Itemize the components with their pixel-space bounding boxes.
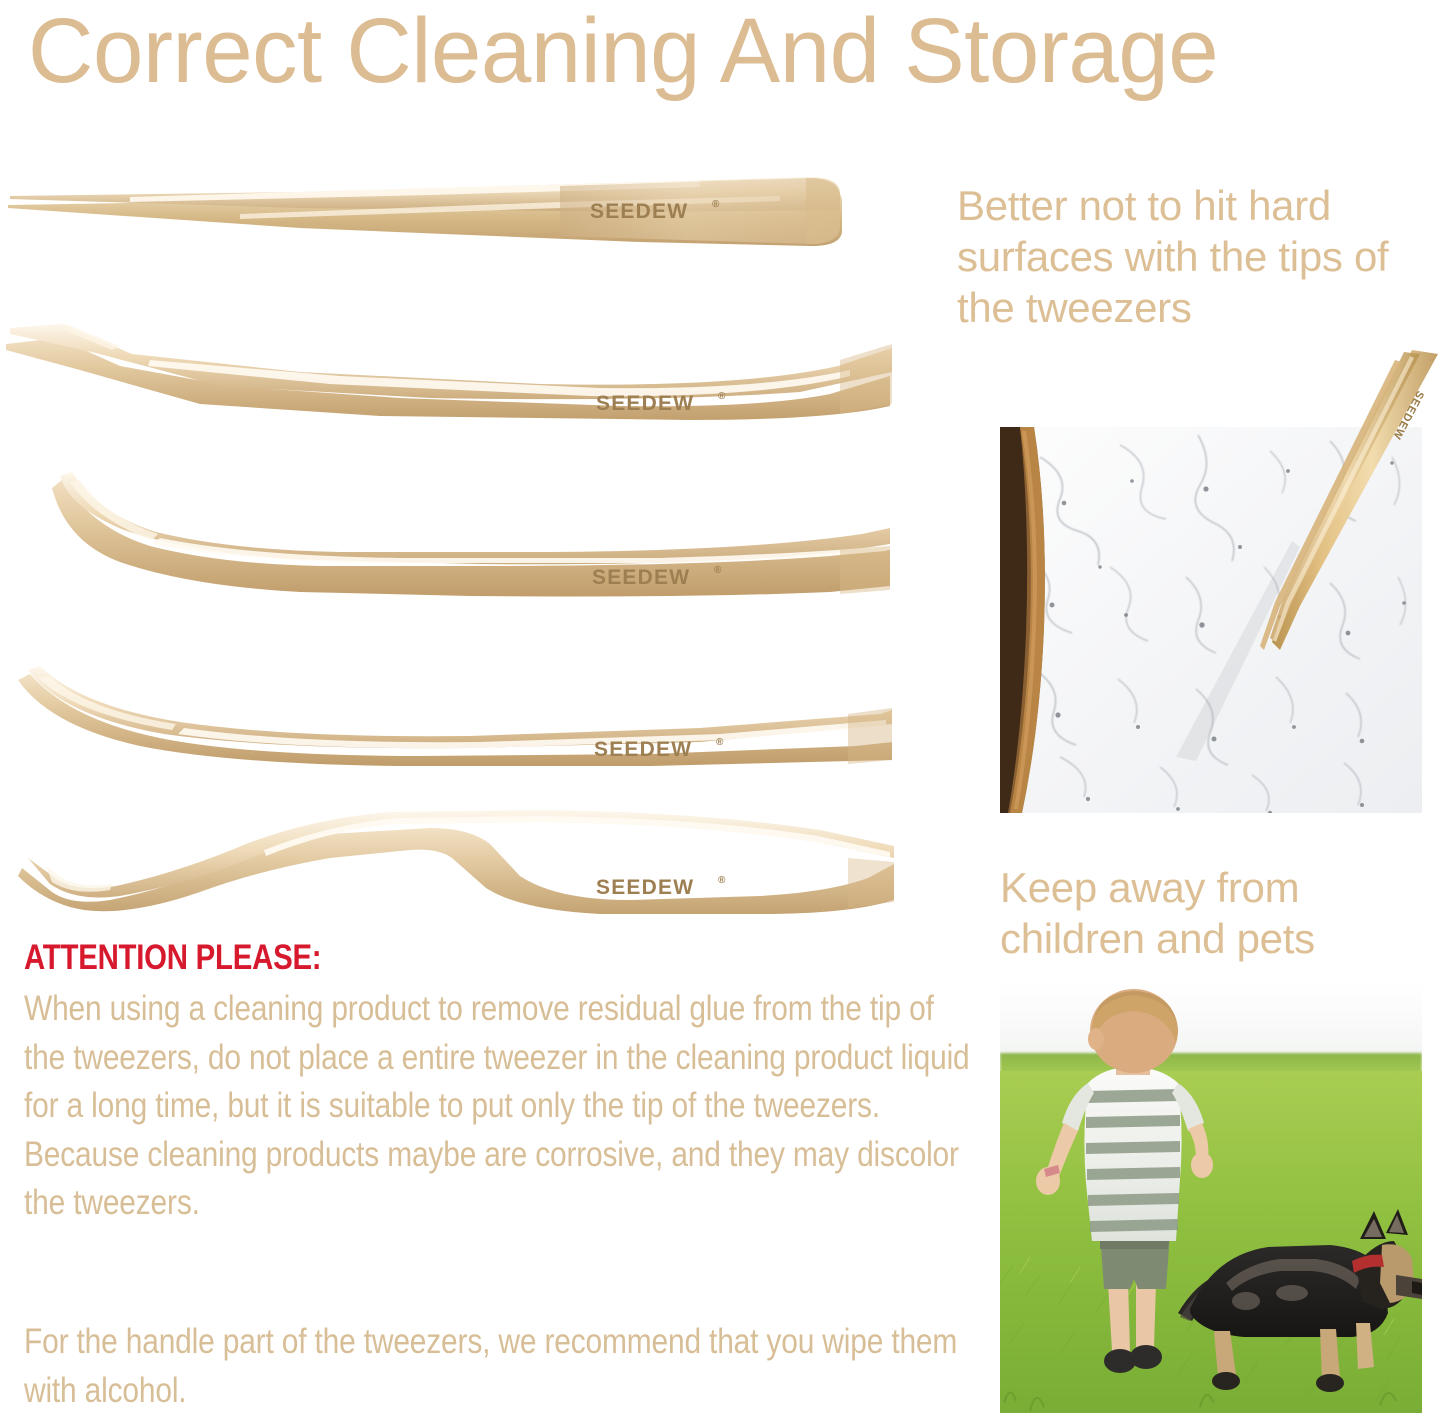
brand-trademark: ® [712, 199, 720, 210]
handle-care-note: For the handle part of the tweezers, we … [24, 1318, 973, 1415]
tip-heading-hard-surfaces: Better not to hit hard surfaces with the… [957, 180, 1445, 333]
brand-label: SEEDEW [596, 392, 694, 415]
tweezer-item-1: SEEDEW ® [0, 170, 940, 260]
infographic-page: Correct Cleaning And Storage [0, 0, 1445, 1418]
tip-heading-children-pets: Keep away from children and pets [1000, 862, 1445, 964]
brand-mark-5: SEEDEW ® [596, 875, 726, 899]
marble-surface-photo [1000, 427, 1422, 813]
brand-label: SEEDEW [590, 200, 688, 223]
tweezer-item-5: SEEDEW ® [0, 796, 940, 916]
tweezer-item-2: SEEDEW ® [0, 310, 940, 420]
brand-trademark: ® [716, 737, 724, 748]
brand-trademark: ® [718, 391, 726, 402]
brand-label: SEEDEW [594, 738, 692, 761]
tweezer-item-4: SEEDEW ® [0, 648, 940, 768]
attention-block: ATTENTION PLEASE: When using a cleaning … [24, 938, 974, 1228]
tweezer-item-3: SEEDEW ® [0, 458, 940, 598]
attention-heading: ATTENTION PLEASE: [24, 938, 822, 978]
attention-body-text: When using a cleaning product to remove … [24, 985, 973, 1228]
brand-trademark: ® [714, 565, 722, 576]
tweezer-gallery: SEEDEW ® [0, 170, 940, 910]
page-title: Correct Cleaning And Storage [28, 2, 1422, 102]
brand-trademark: ® [718, 875, 726, 886]
brand-label: SEEDEW [596, 876, 694, 899]
brand-label: SEEDEW [592, 566, 690, 589]
child-and-dog-photo [1000, 983, 1422, 1413]
